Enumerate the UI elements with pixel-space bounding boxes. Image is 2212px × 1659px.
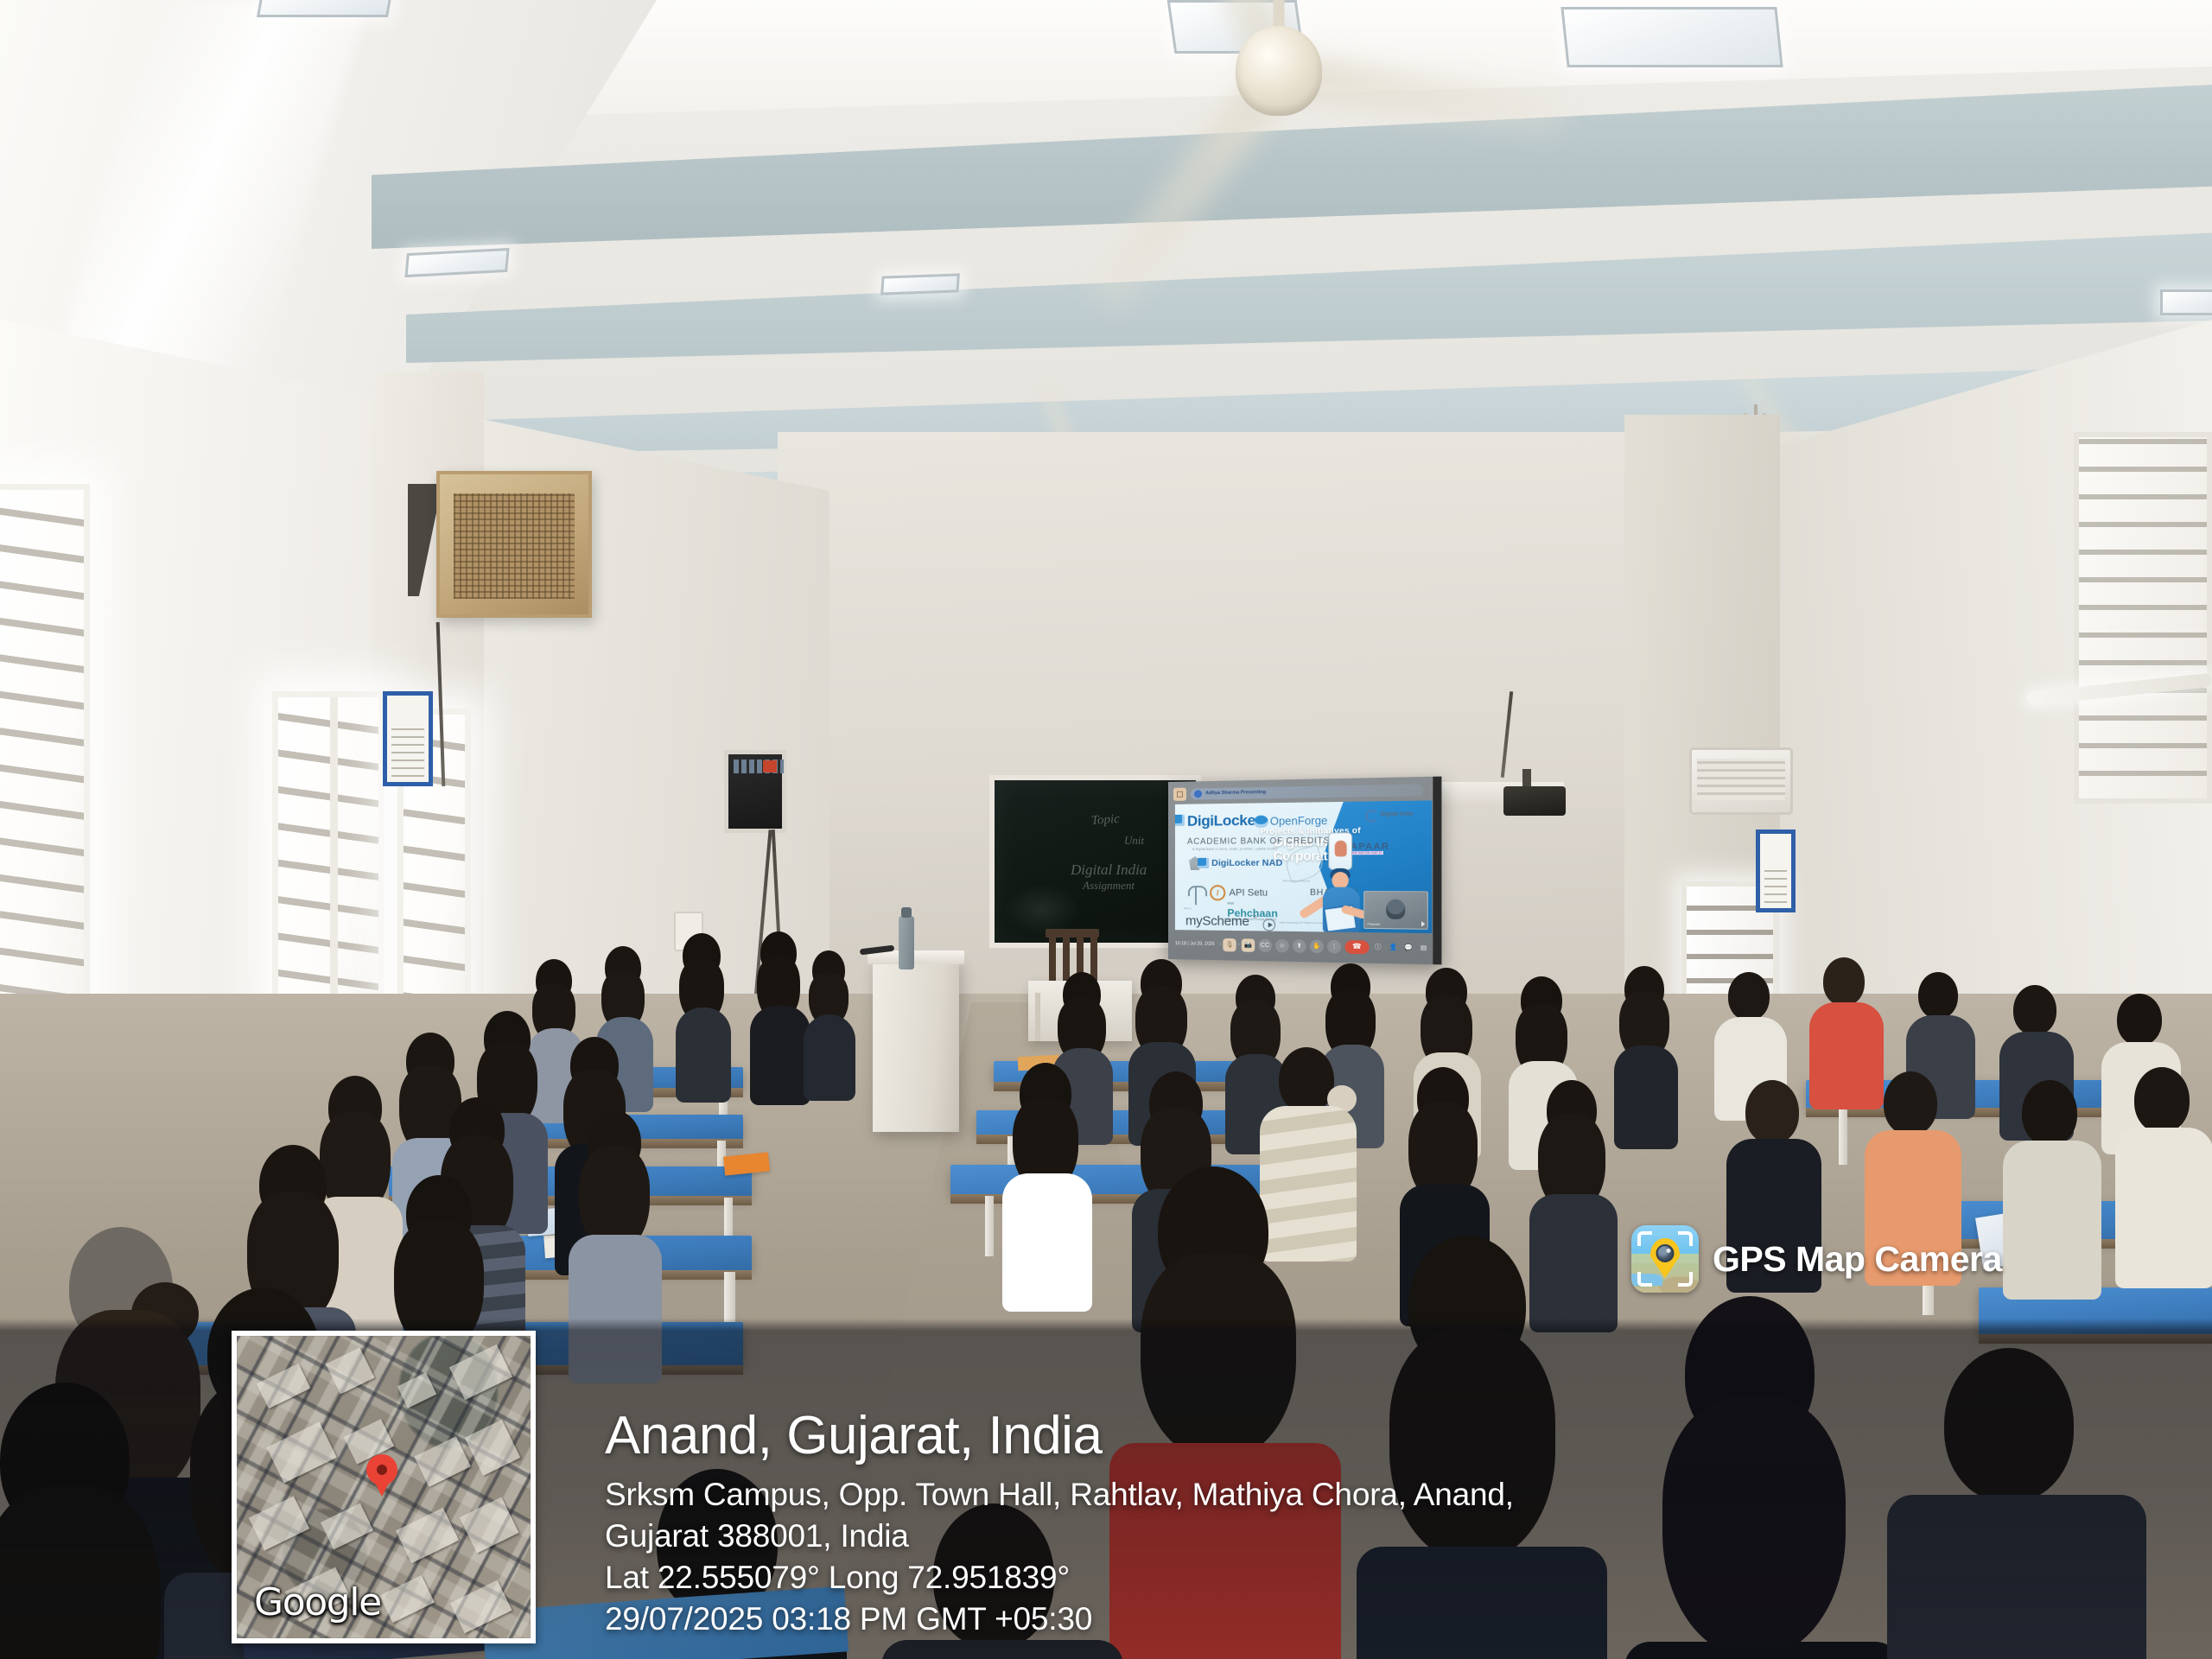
notice-board bbox=[1756, 829, 1796, 912]
chevron-left-icon[interactable]: ‹ bbox=[1238, 942, 1240, 947]
ceiling-fan bbox=[1149, 0, 1408, 109]
chalk-note: Unit bbox=[1124, 834, 1144, 848]
diksha-icon bbox=[1187, 886, 1205, 906]
mesh-grille-icon bbox=[454, 493, 575, 599]
pehchaan-sup: Meri bbox=[1227, 900, 1234, 905]
lecture-podium bbox=[873, 959, 959, 1132]
fingerprint-scan-icon: Onboarding bbox=[1328, 832, 1352, 870]
desk-leg bbox=[985, 1196, 994, 1256]
meeting-control-bar: 15:18 | Jul 29, 2025 ‹ 🎙 ‹ 📷 CC ☺ ⬆ ✋ ⋮ … bbox=[1175, 933, 1423, 959]
ceiling-light bbox=[880, 273, 960, 295]
logo-academic-bank-of-credits: ACADEMIC BANK OF CREDITS bbox=[1187, 836, 1330, 847]
wooden-wall-box bbox=[436, 471, 592, 618]
presenter-avatar bbox=[1194, 790, 1202, 798]
camera-lens-icon bbox=[1656, 1244, 1675, 1262]
apaar-subtitle: ONE NATION ONE ID bbox=[1349, 851, 1384, 855]
chalk-note: Assignment bbox=[1083, 879, 1135, 893]
ceiling-light bbox=[257, 0, 393, 17]
gps-map-camera-icon bbox=[1631, 1225, 1699, 1293]
viewfinder-corner-icon bbox=[1637, 1231, 1652, 1246]
presenter-video-tile[interactable]: Presenter bbox=[1363, 891, 1428, 930]
logo-digital-india: Digital India bbox=[1381, 811, 1413, 817]
ceiling-light bbox=[2160, 289, 2212, 315]
presentation-topbar: Aditya Sharma Presenting bbox=[1173, 782, 1423, 801]
podium-top bbox=[868, 950, 964, 964]
location-place-label: Anand, Gujarat, India bbox=[605, 1408, 1901, 1463]
info-button[interactable]: ⓘ bbox=[1373, 942, 1383, 952]
api-setu-icon: / bbox=[1210, 885, 1225, 900]
registered-mark-icon: ® bbox=[1253, 915, 1256, 920]
digilocker-nad-icon bbox=[1198, 858, 1209, 868]
chalk-note: Digital India bbox=[1071, 861, 1147, 879]
presenting-status-text: Aditya Sharma Presenting bbox=[1205, 790, 1266, 796]
watermark-gradient-top bbox=[0, 1319, 2212, 1331]
viewfinder-corner-icon bbox=[1678, 1272, 1693, 1287]
presentation-slide: Projects & Initiatives of Digital India … bbox=[1175, 800, 1432, 933]
address-line-2: Gujarat 388001, India bbox=[605, 1516, 1901, 1557]
digital-india-icon bbox=[1365, 810, 1378, 823]
captions-button[interactable]: CC bbox=[1258, 938, 1272, 952]
logo-api-setu: API Setu/ bbox=[1229, 887, 1268, 898]
map-pin-icon bbox=[366, 1454, 397, 1494]
coordinates-label: Lat 22.555079° Long 72.951839° bbox=[605, 1557, 1901, 1599]
logo-digilocker-nad: DigiLocker NAD bbox=[1211, 858, 1282, 868]
presenter-name: Presenter bbox=[1367, 923, 1380, 926]
bottle-cap bbox=[901, 907, 912, 918]
play-video-icon bbox=[1263, 918, 1276, 931]
gps-map-camera-badge: GPS Map Camera bbox=[1631, 1225, 2002, 1293]
meeting-right-controls: ⓘ 👤 💬 ▤ bbox=[1373, 942, 1429, 953]
watermark-text-block: Anand, Gujarat, India Srksm Campus, Opp.… bbox=[605, 1408, 1901, 1640]
projection-screen: Aditya Sharma Presenting Projects & Init… bbox=[1168, 777, 1441, 965]
chat-button[interactable]: 💬 bbox=[1403, 943, 1414, 953]
address-line-1: Srksm Campus, Opp. Town Hall, Rahtlav, M… bbox=[605, 1474, 1901, 1516]
control-panel[interactable] bbox=[724, 750, 786, 833]
chalk-note: Topic bbox=[1090, 812, 1120, 829]
raise-hand-button[interactable]: ✋ bbox=[1310, 939, 1324, 953]
air-conditioner bbox=[1689, 747, 1793, 815]
emoji-button[interactable]: ☺ bbox=[1275, 938, 1289, 952]
logo-myscheme: myScheme® bbox=[1185, 913, 1249, 929]
microphone-button[interactable]: 🎙 bbox=[1223, 938, 1236, 950]
meeting-clock: 15:18 | Jul 29, 2025 bbox=[1175, 941, 1215, 947]
ac-vent-icon bbox=[1697, 759, 1785, 800]
chevron-left-icon[interactable]: ‹ bbox=[1220, 942, 1222, 947]
viewfinder-corner-icon bbox=[1637, 1272, 1652, 1287]
classroom-photo: Topic Unit Digital India Assignment Adit… bbox=[0, 0, 2212, 1659]
abc-subtitle: A Digital Bank to store, scale, promote,… bbox=[1192, 847, 1278, 851]
chalk-smudge bbox=[1003, 884, 1081, 936]
digilocker-icon bbox=[1175, 815, 1185, 826]
timestamp-label: 29/07/2025 03:18 PM GMT +05:30 bbox=[605, 1599, 1901, 1640]
logo-openforge: OpenForge bbox=[1270, 815, 1328, 828]
notice-text-lines bbox=[391, 727, 424, 777]
end-call-button[interactable]: ☎ bbox=[1344, 940, 1369, 954]
present-screen-button[interactable]: ⬆ bbox=[1293, 939, 1306, 953]
power-led-icon bbox=[763, 760, 777, 772]
notice-text-lines bbox=[1764, 865, 1787, 903]
map-thumbnail[interactable]: Google bbox=[232, 1331, 536, 1643]
window-grille-icon bbox=[2079, 437, 2207, 798]
presenting-status-pill: Aditya Sharma Presenting bbox=[1191, 784, 1423, 799]
window-right-far bbox=[2074, 432, 2212, 804]
camera-button[interactable]: 📷 bbox=[1242, 938, 1255, 952]
fan-motor bbox=[1236, 26, 1322, 116]
ceiling-light bbox=[1560, 7, 1783, 67]
people-button[interactable]: 👤 bbox=[1388, 942, 1398, 952]
google-attribution: Google bbox=[254, 1580, 381, 1624]
activities-button[interactable]: ▤ bbox=[1418, 943, 1428, 953]
presentation-app-icon[interactable] bbox=[1173, 787, 1186, 800]
openforge-icon bbox=[1254, 816, 1268, 828]
logo-digilocker: DigiLocker bbox=[1187, 812, 1261, 830]
notice-board bbox=[383, 691, 433, 786]
water-bottle bbox=[899, 916, 914, 969]
app-name-label: GPS Map Camera bbox=[1713, 1239, 2002, 1280]
viewfinder-corner-icon bbox=[1678, 1231, 1693, 1246]
projector bbox=[1503, 786, 1566, 816]
diksha-caption: Diksha bbox=[1184, 906, 1192, 910]
desk-leg bbox=[1839, 1109, 1847, 1165]
more-options-button[interactable]: ⋮ bbox=[1327, 939, 1341, 953]
expand-arrow-icon[interactable] bbox=[1421, 921, 1425, 926]
presenter-silhouette bbox=[1386, 899, 1405, 919]
